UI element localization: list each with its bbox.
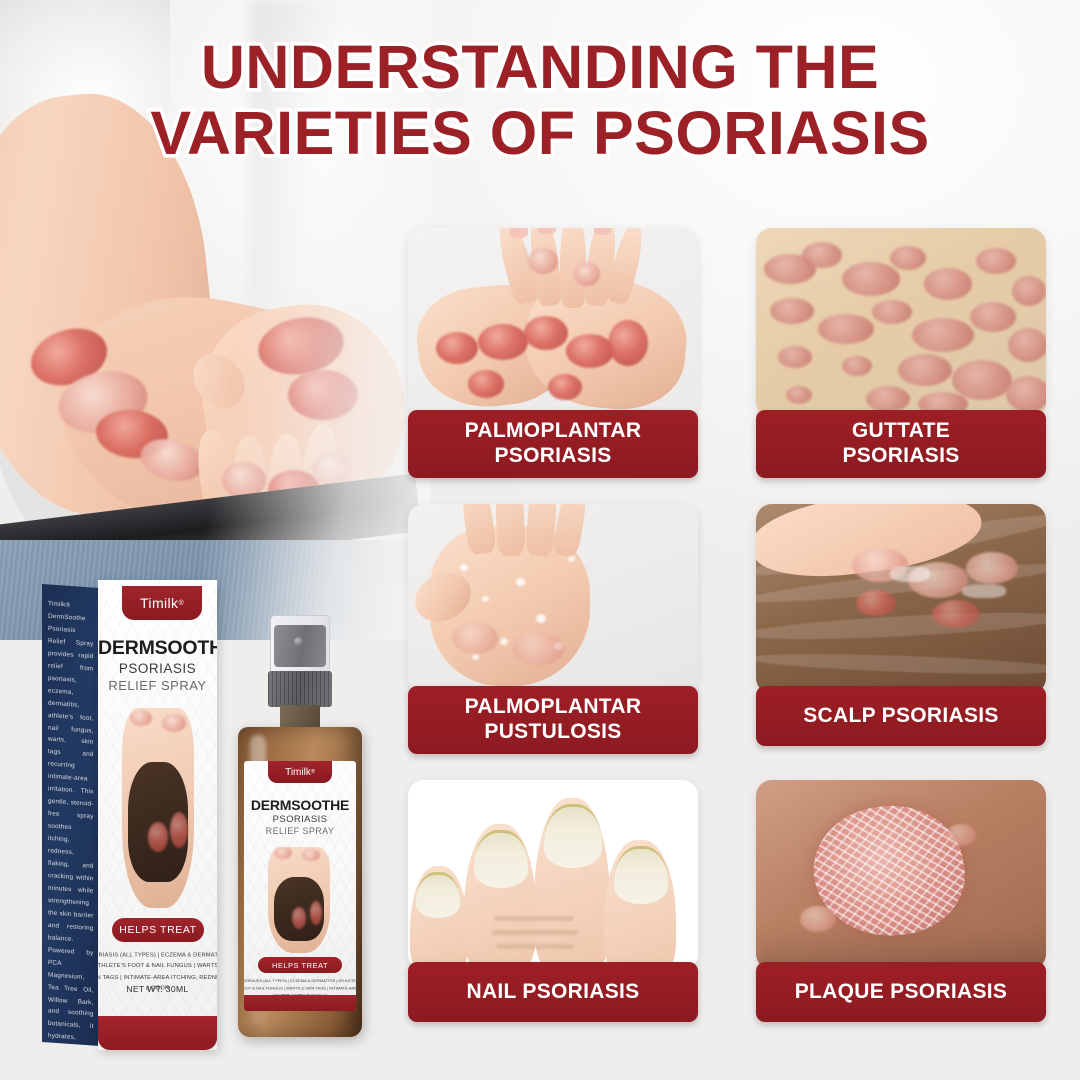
poster-canvas: UNDERSTANDING THE VARIETIES OF PSORIASIS	[0, 0, 1080, 1080]
spray-nozzle-icon	[294, 637, 303, 646]
hand-patch	[268, 470, 320, 508]
hand-patch	[222, 462, 266, 498]
label-line-1: SCALP PSORIASIS	[803, 704, 999, 729]
bottle-net-weight: NET WT: 30ML	[244, 994, 356, 1001]
bottle-label: Timilk® DERMSOOTHE PSORIASIS RELIEF SPRA…	[244, 761, 356, 1011]
carton-side-description: Timilk® DermSoothe Psoriasis Relief Spra…	[48, 598, 94, 1046]
bottle-subtitle-1: PSORIASIS	[244, 814, 356, 825]
label-line-1: PLAQUE PSORIASIS	[795, 980, 1008, 1005]
nail-psoriasis-photo	[408, 780, 698, 970]
card-label-scalp-psoriasis[interactable]: SCALP PSORIASIS	[756, 686, 1046, 746]
bottle-brand-name: Timilk	[285, 767, 311, 778]
bottle-claims-text: PSORIASIS (ALL TYPES) | ECZEMA & DERMATI…	[244, 977, 356, 1000]
bottle-brand-badge: Timilk®	[268, 761, 332, 783]
label-line-2: PUSTULOSIS	[484, 720, 621, 743]
palmoplantar-pustulosis-photo	[408, 504, 698, 694]
label-line-1: PALMOPLANTAR	[465, 419, 642, 442]
product-spray-bottle[interactable]: Timilk® DERMSOOTHE PSORIASIS RELIEF SPRA…	[232, 615, 368, 1045]
thumb-shape	[183, 344, 256, 418]
card-label-palmoplantar-psoriasis[interactable]: PALMOPLANTARPSORIASIS	[408, 410, 698, 478]
bottle-spray-head	[274, 625, 326, 667]
carton-brand-name: Timilk	[140, 595, 178, 611]
title-line-1: UNDERSTANDING THE	[0, 36, 1080, 98]
label-line-1: PALMOPLANTAR	[465, 695, 642, 718]
title-line-2: VARIETIES OF PSORIASIS	[0, 102, 1080, 164]
card-guttate-psoriasis[interactable]: GUTTATEPSORIASIS	[756, 228, 1046, 490]
label-line-1: GUTTATE	[852, 419, 950, 442]
bottle-legs-photo	[258, 843, 342, 953]
hand-patch	[312, 452, 352, 486]
card-palmoplantar-psoriasis[interactable]: PALMOPLANTARPSORIASIS	[408, 228, 698, 490]
arm-patch	[94, 406, 171, 461]
finger-shape	[193, 428, 240, 528]
card-scalp-psoriasis[interactable]: SCALP PSORIASIS	[756, 504, 1046, 766]
page-title: UNDERSTANDING THE VARIETIES OF PSORIASIS	[0, 36, 1080, 164]
registered-mark-icon: ®	[311, 769, 315, 775]
finger-shape	[296, 422, 340, 518]
arm-patch	[136, 433, 208, 487]
carton-brand-badge: Timilk®	[122, 586, 202, 620]
card-palmoplantar-pustulosis[interactable]: PALMOPLANTARPUSTULOSIS	[408, 504, 698, 766]
product-shot: Timilk® DermSoothe Psoriasis Relief Spra…	[0, 560, 400, 1080]
scalp-psoriasis-photo	[756, 504, 1046, 694]
card-label-guttate-psoriasis[interactable]: GUTTATEPSORIASIS	[756, 410, 1046, 478]
carton-subtitle-1: PSORIASIS	[98, 661, 217, 676]
label-line-2: PSORIASIS	[494, 444, 611, 467]
hand-shape	[188, 289, 421, 531]
psoriasis-types-grid: PALMOPLANTARPSORIASIS	[408, 228, 1056, 1058]
plaque-psoriasis-photo	[756, 780, 1046, 970]
bottle-collar	[268, 671, 332, 707]
label-line-1: NAIL PSORIASIS	[466, 980, 639, 1005]
card-plaque-psoriasis[interactable]: PLAQUE PSORIASIS	[756, 780, 1046, 1042]
bottle-subtitle-2: RELIEF SPRAY	[244, 826, 356, 836]
forearm-shape	[39, 271, 380, 558]
carton-side-panel: Timilk® DermSoothe Psoriasis Relief Spra…	[42, 584, 100, 1046]
card-label-plaque-psoriasis[interactable]: PLAQUE PSORIASIS	[756, 962, 1046, 1022]
product-carton[interactable]: Timilk® DermSoothe Psoriasis Relief Spra…	[42, 580, 217, 1050]
card-label-palmoplantar-pustulosis[interactable]: PALMOPLANTARPUSTULOSIS	[408, 686, 698, 754]
bottle-helps-treat-badge: HELPS TREAT	[258, 957, 342, 973]
card-nail-psoriasis[interactable]: NAIL PSORIASIS	[408, 780, 698, 1042]
carton-subtitle-2: RELIEF SPRAY	[98, 678, 217, 693]
carton-front-panel: Timilk® DERMSOOTHE PSORIASIS RELIEF SPRA…	[98, 580, 217, 1050]
arm-patch	[24, 319, 115, 394]
hand-patch	[288, 370, 358, 420]
carton-legs-photo	[108, 702, 208, 912]
carton-product-name: DERMSOOTHE	[98, 637, 217, 660]
finger-shape	[231, 435, 270, 541]
card-label-nail-psoriasis[interactable]: NAIL PSORIASIS	[408, 962, 698, 1022]
label-line-2: PSORIASIS	[842, 444, 959, 467]
finger-shape	[265, 433, 304, 535]
palmoplantar-psoriasis-photo	[408, 228, 698, 418]
carton-net-weight: NET WT: 30ML	[98, 984, 217, 994]
arm-patch	[53, 363, 154, 440]
registered-mark-icon: ®	[178, 600, 184, 607]
guttate-psoriasis-photo	[756, 228, 1046, 418]
bottle-product-name: DERMSOOTHE	[244, 797, 356, 813]
hand-patch	[254, 311, 348, 381]
carton-helps-treat-badge: HELPS TREAT	[112, 918, 204, 942]
